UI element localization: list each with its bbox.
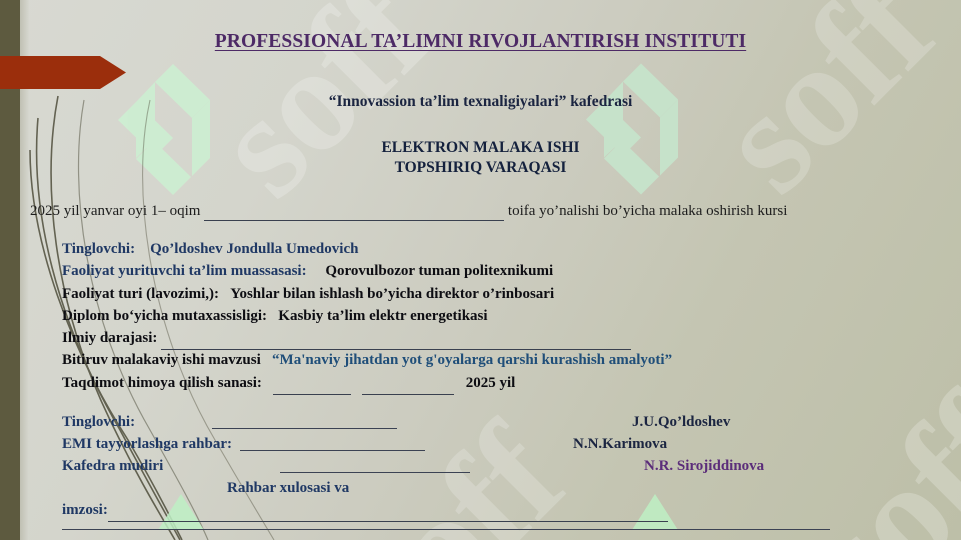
field-value: Yoshlar bilan ishlash bo’yicha direktor … <box>230 286 554 302</box>
course-line: 2025 yil yanvar oyi 1– oqim toifa yo’nal… <box>30 203 941 221</box>
closing-line-2: imzosi: <box>62 499 668 522</box>
closing-label: imzosi: <box>62 502 108 518</box>
field-row-lavozim: Faoliyat turi (lavozimi,): Yoshlar bilan… <box>62 283 672 305</box>
document-kind-line-1: ELEKTRON MALAKA ISHI <box>0 138 961 158</box>
signature-row-rahbar: EMI tayyorlashga rahbar: N.N.Karimova <box>62 433 232 455</box>
field-label: Taqdimot himoya qilish sanasi: <box>62 375 262 391</box>
field-row-himoya-sanasi: Taqdimot himoya qilish sanasi: 2025 yil <box>62 372 672 394</box>
closing-line-1: Rahbar xulosasi va <box>62 477 668 499</box>
field-value: 2025 yil <box>466 375 516 391</box>
signature-label: Kafedra mudiri <box>62 458 163 474</box>
signature-name: N.R. Sirojiddinova <box>644 455 764 477</box>
field-label: Faoliyat yurituvchi ta’lim muassasasi: <box>62 263 307 279</box>
signature-line[interactable] <box>280 472 470 473</box>
field-row-tinglovchi: Tinglovchi: Qo’ldoshev Jondulla Umedovic… <box>62 238 672 260</box>
document-kind: ELEKTRON MALAKA ISHI TOPSHIRIQ VARAQASI <box>0 138 961 178</box>
signature-line[interactable] <box>240 450 425 451</box>
field-row-mavzu: Bitiruv malakaviy ishi mavzusi “Ma'naviy… <box>62 349 672 371</box>
bottom-rule <box>62 529 830 530</box>
date-day-blank-field[interactable] <box>273 372 351 395</box>
field-label: Bitiruv malakaviy ishi mavzusi <box>62 352 261 368</box>
field-row-mutaxassislik: Diplom bo‘yicha mutaxassisligi: Kasbiy t… <box>62 305 672 327</box>
field-value: Qorovulbozor tuman politexnikumi <box>325 263 553 279</box>
signature-name: N.N.Karimova <box>573 433 667 455</box>
course-suffix: toifa yo’nalishi bo’yicha malaka oshiris… <box>508 203 788 219</box>
closing-text: Rahbar xulosasi va <box>227 480 349 496</box>
field-label: Diplom bo‘yicha mutaxassisligi: <box>62 308 267 324</box>
slide-canvas: soff soff soff soff <box>0 0 961 540</box>
field-value: Kasbiy ta’lim elektr energetikasi <box>278 308 487 324</box>
thesis-topic-value: “Ma'naviy jihatdan yot g'oyalarga qarshi… <box>272 352 672 368</box>
page-title: PROFESSIONAL TA’LIMNI RIVOJLANTIRISH INS… <box>0 31 961 53</box>
signature-label: EMI tayyorlashga rahbar: <box>62 436 232 452</box>
fields-block: Tinglovchi: Qo’ldoshev Jondulla Umedovic… <box>62 238 672 394</box>
signature-line[interactable] <box>212 428 397 429</box>
imzo-blank-field[interactable] <box>108 499 668 522</box>
document-kind-line-2: TOPSHIRIQ VARAQASI <box>0 158 961 178</box>
closing-block: Rahbar xulosasi va imzosi: <box>62 477 668 522</box>
date-month-blank-field[interactable] <box>362 372 454 395</box>
signature-block: Tinglovchi: J.U.Qo’ldoshev EMI tayyorlas… <box>62 411 232 477</box>
field-value: Qo’ldoshev Jondulla Umedovich <box>150 241 358 257</box>
department-name: “Innovassion ta’lim texnaligiyalari” kaf… <box>0 93 961 111</box>
signature-row-tinglovchi: Tinglovchi: J.U.Qo’ldoshev <box>62 411 232 433</box>
document-content: PROFESSIONAL TA’LIMNI RIVOJLANTIRISH INS… <box>0 0 961 540</box>
field-row-muassasa: Faoliyat yurituvchi ta’lim muassasasi: Q… <box>62 260 672 282</box>
course-blank-field[interactable] <box>204 203 504 221</box>
field-label: Ilmiy darajasi: <box>62 330 157 346</box>
field-label: Faoliyat turi (lavozimi,): <box>62 286 219 302</box>
signature-row-kafedra-mudiri: Kafedra mudiri N.R. Sirojiddinova <box>62 455 232 477</box>
field-row-ilmiy-daraja: Ilmiy darajasi: <box>62 327 672 349</box>
ilmiy-daraja-blank-field[interactable] <box>161 327 631 350</box>
field-label: Tinglovchi: <box>62 241 135 257</box>
signature-name: J.U.Qo’ldoshev <box>632 411 730 433</box>
course-prefix: 2025 yil yanvar oyi 1– oqim <box>30 203 200 219</box>
signature-label: Tinglovchi: <box>62 414 135 430</box>
